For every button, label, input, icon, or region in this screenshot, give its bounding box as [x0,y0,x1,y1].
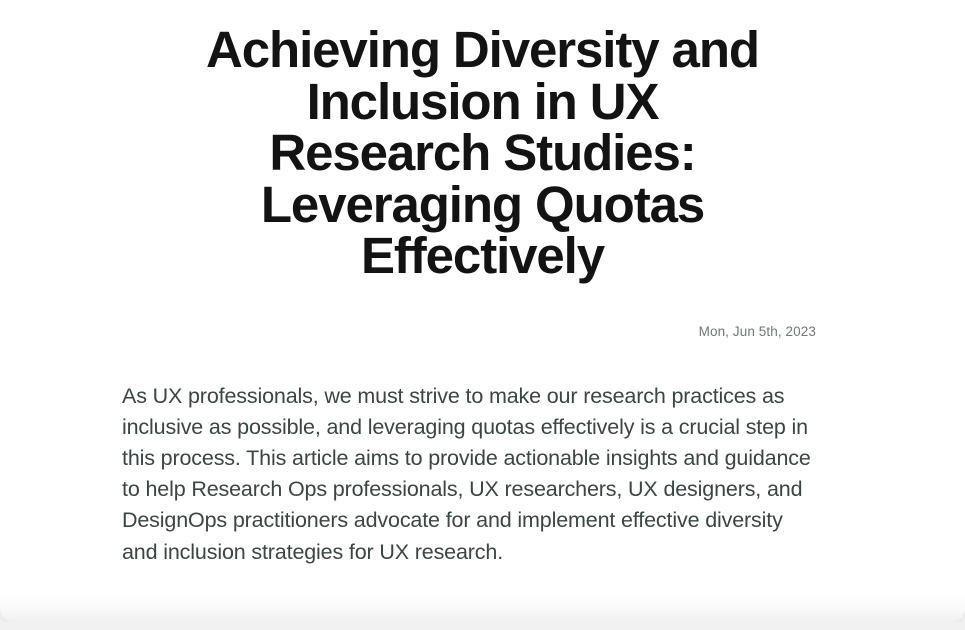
article-card: Achieving Diversity and Inclusion in UX … [0,0,965,622]
card-bottom-fade [0,596,965,622]
article-container: Achieving Diversity and Inclusion in UX … [0,0,965,568]
article-paragraph: As UX professionals, we must strive to m… [122,381,816,568]
publish-date: Mon, Jun 5th, 2023 [699,324,816,339]
page-gutter [0,622,965,630]
article-body: As UX professionals, we must strive to m… [0,341,965,568]
article-meta: Mon, Jun 5th, 2023 [0,282,965,341]
page-title: Achieving Diversity and Inclusion in UX … [0,0,965,282]
